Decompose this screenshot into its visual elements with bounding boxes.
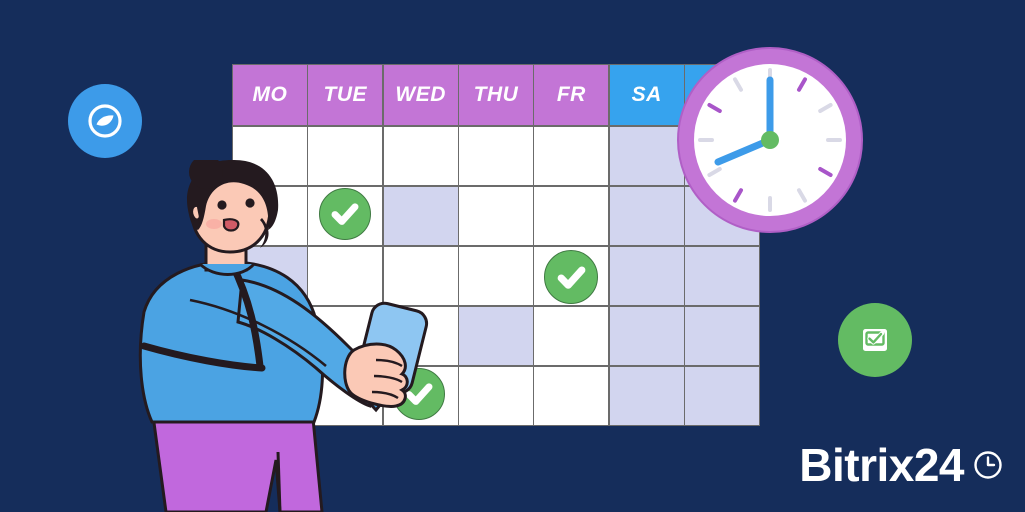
ear — [192, 206, 200, 220]
task-checkbox-icon-badge[interactable] — [838, 303, 912, 377]
calendar-day-cell[interactable] — [459, 247, 533, 306]
calendar-day-cell[interactable] — [610, 307, 684, 366]
bitrix24-logo[interactable]: Bitrix24 — [799, 442, 1003, 488]
calendar-header-sa[interactable]: SA — [610, 65, 684, 125]
calendar-day-cell[interactable] — [459, 367, 533, 426]
calendar-day-cell[interactable] — [534, 127, 608, 186]
calendar-day-cell[interactable] — [610, 367, 684, 426]
calendar-day-cell[interactable] — [459, 187, 533, 246]
calendar-day-cell[interactable] — [534, 187, 608, 246]
character-svg — [130, 160, 440, 512]
bitrix24-logo-text: Bitrix24 — [799, 442, 964, 488]
clock-icon — [973, 450, 1003, 480]
calendar-day-cell[interactable] — [610, 187, 684, 246]
calendar-day-cell[interactable] — [685, 247, 759, 306]
calendar-day-cell[interactable] — [685, 307, 759, 366]
check-badge-fri[interactable] — [544, 250, 598, 304]
checkbox-task-icon — [855, 320, 895, 360]
calendar-header-tue[interactable]: TUE — [308, 65, 382, 125]
wall-clock-illustration — [674, 44, 866, 236]
leaf-icon-badge[interactable] — [68, 84, 142, 158]
blush — [206, 219, 222, 229]
calendar-day-cell[interactable] — [610, 127, 684, 186]
clock-center-pin — [761, 131, 779, 149]
calendar-day-cell[interactable] — [534, 367, 608, 426]
calendar-header-fr[interactable]: FR — [534, 65, 608, 125]
calendar-day-cell[interactable] — [610, 247, 684, 306]
calendar-day-cell[interactable] — [534, 307, 608, 366]
check-icon — [555, 261, 588, 294]
woman-with-phone-illustration — [130, 160, 440, 512]
calendar-header-wed[interactable]: WED — [384, 65, 458, 125]
clock-svg — [674, 44, 866, 236]
calendar-day-cell[interactable] — [685, 367, 759, 426]
pants-seam — [278, 452, 280, 512]
mouth — [224, 219, 238, 230]
calendar-header-mo[interactable]: MO — [233, 65, 307, 125]
calendar-day-cell[interactable] — [459, 127, 533, 186]
calendar-day-cell[interactable] — [459, 307, 533, 366]
calendar-header-thu[interactable]: THU — [459, 65, 533, 125]
pants — [152, 408, 322, 512]
illustration-canvas: MOTUEWEDTHUFRSASU — [0, 0, 1025, 512]
eye-right — [245, 198, 254, 207]
leaf-icon — [85, 101, 125, 141]
eye-left — [217, 200, 226, 209]
